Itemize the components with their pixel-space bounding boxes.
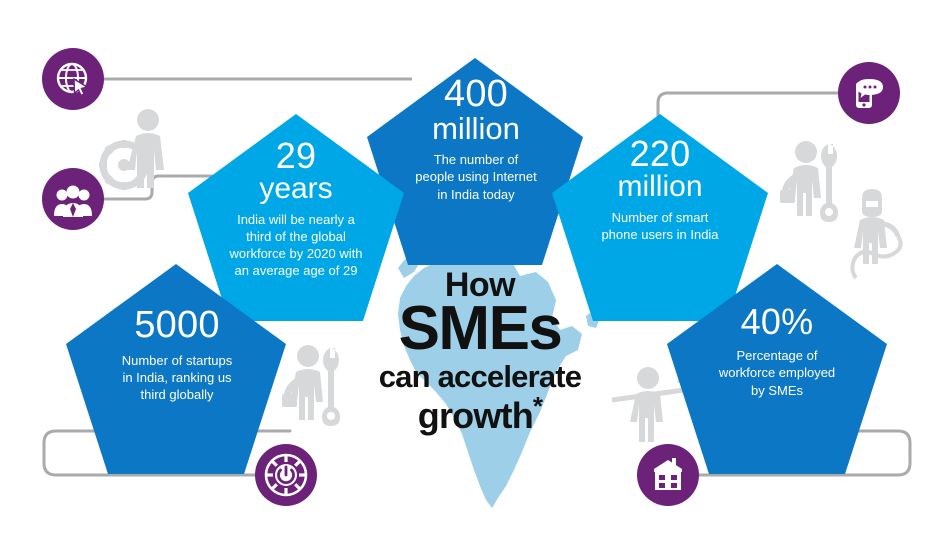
- stat-unit: million: [562, 170, 758, 204]
- stat-value: 220: [562, 134, 758, 174]
- people-group-icon-glyph: [52, 178, 94, 220]
- stat-unit: million: [383, 112, 569, 147]
- phone-chat-icon[interactable]: [838, 62, 900, 124]
- stat-value: 5000: [72, 304, 282, 347]
- stat-description: Number of startupsin India, ranking usth…: [72, 352, 282, 403]
- stat-unit: years: [198, 172, 394, 206]
- gear-power-icon-glyph: [263, 452, 309, 498]
- stat-description: Percentage ofworkforce employedby SMEs: [672, 347, 882, 398]
- infographic-canvas: 400 million The number ofpeople using In…: [0, 0, 950, 535]
- headline-line-2: SMEs: [340, 298, 620, 360]
- headline-line-4: growth*: [340, 393, 620, 434]
- stat-workforce-age: 29 years India will be nearly athird of …: [198, 136, 394, 280]
- phone-chat-icon-glyph: [849, 73, 889, 113]
- stat-description: Number of smartphone users in India: [562, 209, 758, 243]
- stat-description: The number ofpeople using Internetin Ind…: [383, 151, 569, 202]
- headline-asterisk: *: [533, 391, 542, 421]
- stat-smartphone-users: 220 million Number of smartphone users i…: [562, 134, 758, 243]
- factory-icon[interactable]: [637, 444, 699, 506]
- stat-value: 400: [383, 73, 569, 116]
- stat-startups: 5000 Number of startupsin India, ranking…: [72, 304, 282, 403]
- people-group-icon[interactable]: [42, 168, 104, 230]
- factory-icon-glyph: [648, 455, 688, 495]
- stat-value: 29: [198, 136, 394, 176]
- stat-value: 40%: [672, 302, 882, 342]
- stat-internet-users: 400 million The number ofpeople using In…: [383, 73, 569, 203]
- headline-growth-word: growth: [418, 395, 533, 436]
- page-title: How SMEs can accelerate growth*: [340, 268, 620, 434]
- globe-cursor-icon[interactable]: [42, 48, 104, 110]
- stat-workforce-employed: 40% Percentage ofworkforce employedby SM…: [672, 302, 882, 399]
- headline-line-3: can accelerate: [340, 361, 620, 392]
- gear-power-icon[interactable]: [255, 444, 317, 506]
- globe-cursor-icon-glyph: [53, 59, 93, 99]
